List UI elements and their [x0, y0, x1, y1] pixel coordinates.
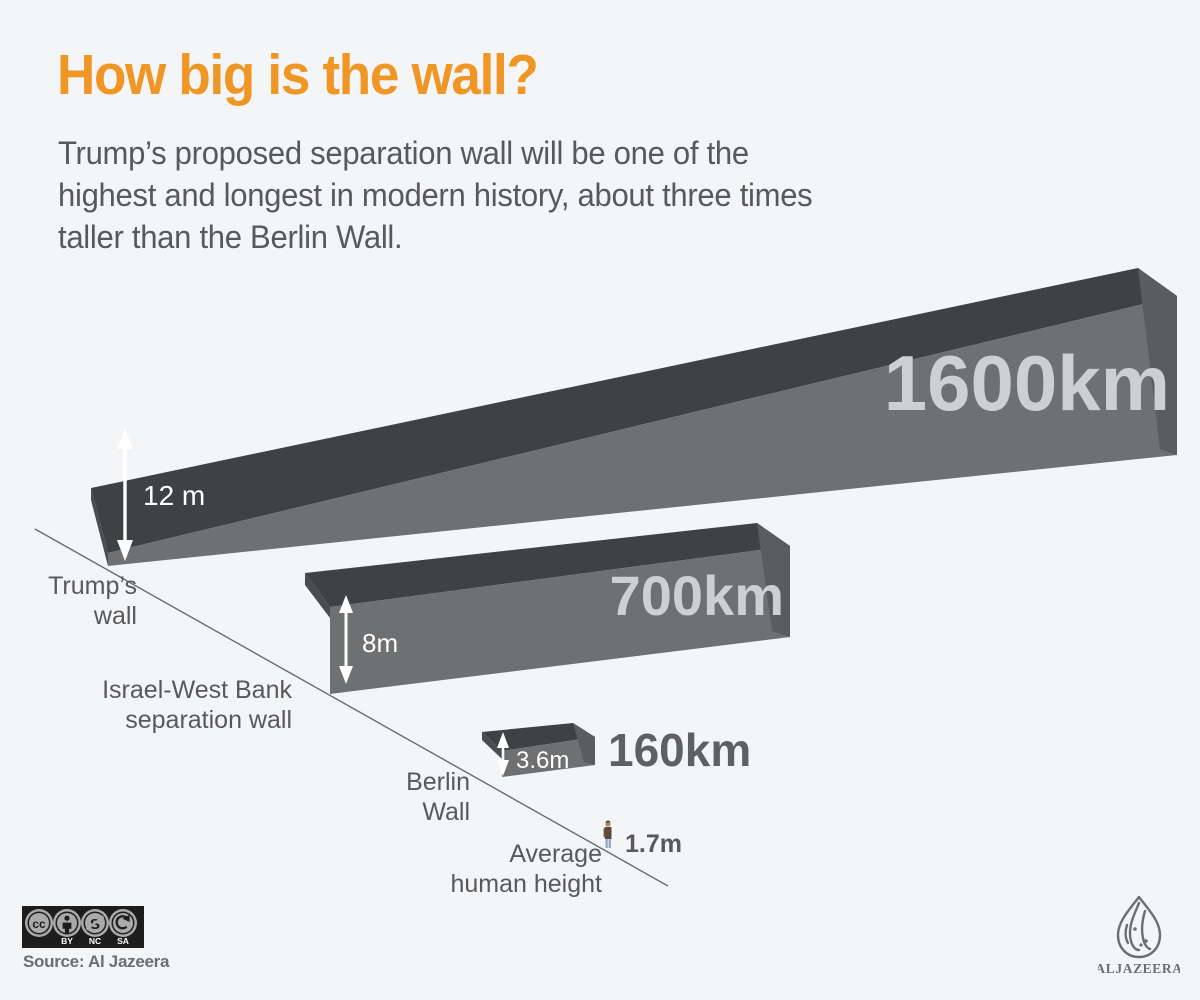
aljazeera-logo: ALJAZEERA — [1098, 893, 1180, 983]
bar-front-face — [108, 296, 1177, 566]
bar-name-label-line1: Israel-West Bank — [102, 676, 292, 704]
average-human-figure[interactable] — [604, 821, 612, 848]
bar-name-label-line1: Berlin — [406, 768, 470, 796]
bar-length-label: 1600km — [884, 339, 1170, 427]
bar-height-label: 8m — [362, 628, 398, 658]
aljazeera-wordmark: ALJAZEERA — [1098, 961, 1180, 976]
cc-icon: cc — [25, 909, 53, 937]
svg-text:cc: cc — [32, 917, 46, 931]
infographic-canvas: How big is the wall? Trump’s proposed se… — [0, 0, 1200, 1000]
human-name-label-line2: human height — [450, 870, 602, 898]
cc-sa-label: SA — [117, 936, 129, 946]
wall-comparison-chart: 1600km 12 m Trump’s wall 700km — [0, 0, 1200, 1000]
bar-name-label-line2: separation wall — [125, 706, 292, 734]
sa-icon — [109, 909, 137, 937]
aljazeera-mark-icon — [1118, 897, 1160, 957]
human-name-label-line1: Average — [509, 840, 602, 868]
bar-length-label: 160km — [608, 724, 751, 776]
bar-length-label: 700km — [610, 564, 784, 627]
creative-commons-badge[interactable]: cc BY S NC — [22, 906, 144, 953]
cc-by-label: BY — [61, 936, 73, 946]
bar-height-label: 3.6m — [516, 747, 569, 774]
bar-height-label: 12 m — [143, 480, 205, 511]
human-height-label: 1.7m — [625, 830, 682, 858]
source-attribution: Source: Al Jazeera — [23, 952, 169, 972]
cc-nc-label: NC — [89, 936, 101, 946]
bar-name-label-line2: Wall — [422, 798, 470, 826]
bar-name-label-line1: Trump’s — [48, 572, 137, 600]
nc-icon: S — [81, 909, 109, 937]
bar-berlin-wall[interactable]: 160km 3.6m Berlin Wall — [406, 723, 751, 826]
by-person-icon — [53, 909, 81, 937]
bar-name-label-line2: wall — [93, 602, 137, 630]
